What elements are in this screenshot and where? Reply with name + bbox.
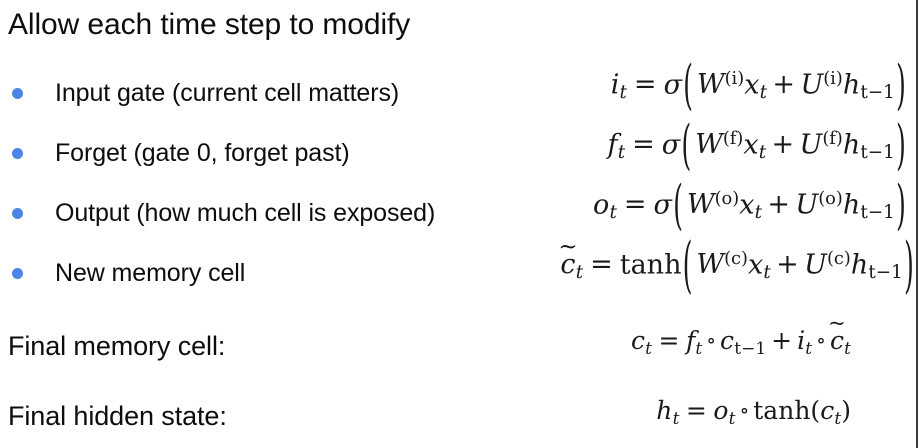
eq-plus: +: [767, 69, 800, 100]
eq-close-paren: ): [895, 113, 907, 175]
eq-input-x: x: [743, 129, 758, 160]
eq-weight-w: W: [684, 189, 714, 220]
eq-plus: +: [771, 249, 804, 280]
eq-hidden-h-subscript: t−1: [860, 82, 895, 103]
eq-weight-w-superscript: (i): [725, 68, 745, 89]
eq-weight-u-superscript: (i): [823, 68, 843, 89]
eq-lhs-symbol: h: [656, 396, 672, 425]
tilde-accent-icon: ~: [558, 236, 577, 259]
eq-sigma-symbol: σ: [662, 129, 680, 160]
eq-lhs-symbol: f: [608, 129, 618, 160]
eq-lhs-subscript: t: [618, 142, 626, 163]
eq-input-x-subscript: t: [754, 202, 762, 223]
eq-lhs-subscript: t: [609, 202, 617, 223]
bullet-dot-icon: [12, 268, 23, 279]
eq-cell-c-subscript: t−1: [734, 339, 766, 359]
eq-weight-u-superscript: (f): [822, 128, 843, 149]
eq-weight-w-superscript: (o): [715, 188, 740, 209]
slide-canvas: Allow each time step to modify Input gat…: [0, 0, 923, 448]
eq-hidden-h-subscript: t−1: [868, 262, 903, 283]
eq-weight-w: W: [692, 129, 722, 160]
eq-close-paren: ): [903, 229, 915, 300]
eq-weight-u: U: [800, 129, 823, 160]
equation-input-gate: it=σ(W(i)xt+U(i)ht−1): [611, 68, 907, 103]
eq-input-x-subscript: t: [759, 82, 767, 103]
eq-cell-c: c: [720, 326, 734, 355]
eq-hidden-h: h: [843, 189, 860, 220]
eq-hidden-h-subscript: t−1: [860, 202, 895, 223]
eq-weight-u: U: [795, 189, 818, 220]
eq-close-paren: ): [895, 53, 907, 115]
eq-plus: +: [766, 326, 797, 355]
bullet-label: Input gate (current cell matters): [55, 76, 399, 110]
equation-output-gate: ot=σ(W(o)xt+U(o)ht−1): [593, 188, 907, 223]
eq-input-x: x: [744, 69, 759, 100]
eq-input-x: x: [739, 189, 754, 220]
eq-weight-u-superscript: (o): [818, 188, 843, 209]
eq-input-x-subscript: t: [759, 142, 767, 163]
eq-equals: =: [679, 396, 713, 425]
eq-input-x: x: [748, 249, 763, 280]
eq-plus: +: [766, 129, 799, 160]
eq-lhs-symbol: o: [593, 189, 609, 220]
eq-equals: =: [583, 249, 620, 280]
page-title: Allow each time step to modify: [8, 6, 410, 44]
bullet-dot-icon: [12, 148, 23, 159]
eq-weight-u: U: [804, 249, 827, 280]
eq-open-paren: (: [810, 396, 820, 425]
eq-hidden-h: h: [851, 249, 868, 280]
eq-plus: +: [762, 189, 795, 220]
eq-weight-w: W: [694, 69, 724, 100]
eq-lhs-subscript: t: [619, 82, 627, 103]
eq-hadamard-operator: ∘: [735, 398, 753, 422]
eq-open-paren: (: [672, 173, 684, 235]
eq-weight-w-superscript: (c): [724, 248, 748, 269]
eq-input-i: i: [797, 326, 805, 355]
eq-weight-w-superscript: (f): [723, 128, 744, 149]
eq-hidden-h-subscript: t−1: [860, 142, 895, 163]
bullet-label: Output (how much cell is exposed): [55, 196, 435, 230]
eq-open-paren: (: [682, 53, 694, 115]
tilde-accent-icon: ~: [828, 313, 846, 334]
eq-equals: =: [652, 326, 686, 355]
eq-equals: =: [625, 129, 662, 160]
eq-lhs-subscript: t: [576, 262, 584, 283]
eq-weight-u: U: [800, 69, 823, 100]
eq-equals: =: [617, 189, 654, 220]
equation-final-memory-cell: ct=ft∘ct−1+it∘~ct: [631, 326, 851, 359]
eq-hidden-h: h: [843, 69, 860, 100]
bullet-dot-icon: [12, 208, 23, 219]
eq-sigma-symbol: σ: [664, 69, 682, 100]
eq-weight-u-superscript: (c): [827, 248, 851, 269]
eq-hidden-h: h: [843, 129, 860, 160]
equation-forget-gate: ft=σ(W(f)xt+U(f)ht−1): [608, 128, 907, 163]
eq-output-o: o: [713, 396, 728, 425]
eq-tanh-symbol: tanh: [620, 249, 682, 280]
eq-equals: =: [627, 69, 664, 100]
eq-close-paren: ): [895, 173, 907, 235]
eq-lhs-subscript: t: [645, 339, 652, 359]
eq-open-paren: (: [680, 113, 692, 175]
eq-candidate-accented-symbol: ~c: [830, 326, 844, 355]
bullet-label: Forget (gate 0, forget past): [55, 136, 350, 170]
section-heading-final-memory-cell: Final memory cell:: [8, 328, 225, 364]
eq-sigma-symbol: σ: [654, 189, 672, 220]
eq-lhs-accented-symbol: ~c: [560, 249, 575, 280]
eq-weight-w: W: [694, 249, 724, 280]
eq-cell-c: c: [820, 396, 834, 425]
bullet-dot-icon: [12, 88, 23, 99]
slide-right-border: [916, 0, 918, 448]
eq-tanh-symbol: tanh: [753, 396, 810, 425]
bullet-label: New memory cell: [55, 256, 245, 290]
eq-open-paren: (: [681, 229, 693, 300]
eq-forget-f: f: [686, 326, 695, 355]
equation-new-memory-cell: ~ct=tanh(W(c)xt+U(c)ht−1): [560, 248, 915, 283]
section-heading-final-hidden-state: Final hidden state:: [8, 398, 227, 434]
eq-hadamard-operator: ∘: [702, 328, 720, 352]
eq-input-x-subscript: t: [763, 262, 771, 283]
eq-candidate-c-subscript: t: [844, 339, 851, 359]
eq-close-paren: ): [841, 396, 851, 425]
eq-lhs-symbol: c: [631, 326, 645, 355]
equation-final-hidden-state: ht=ot∘tanh(ct): [656, 396, 851, 429]
